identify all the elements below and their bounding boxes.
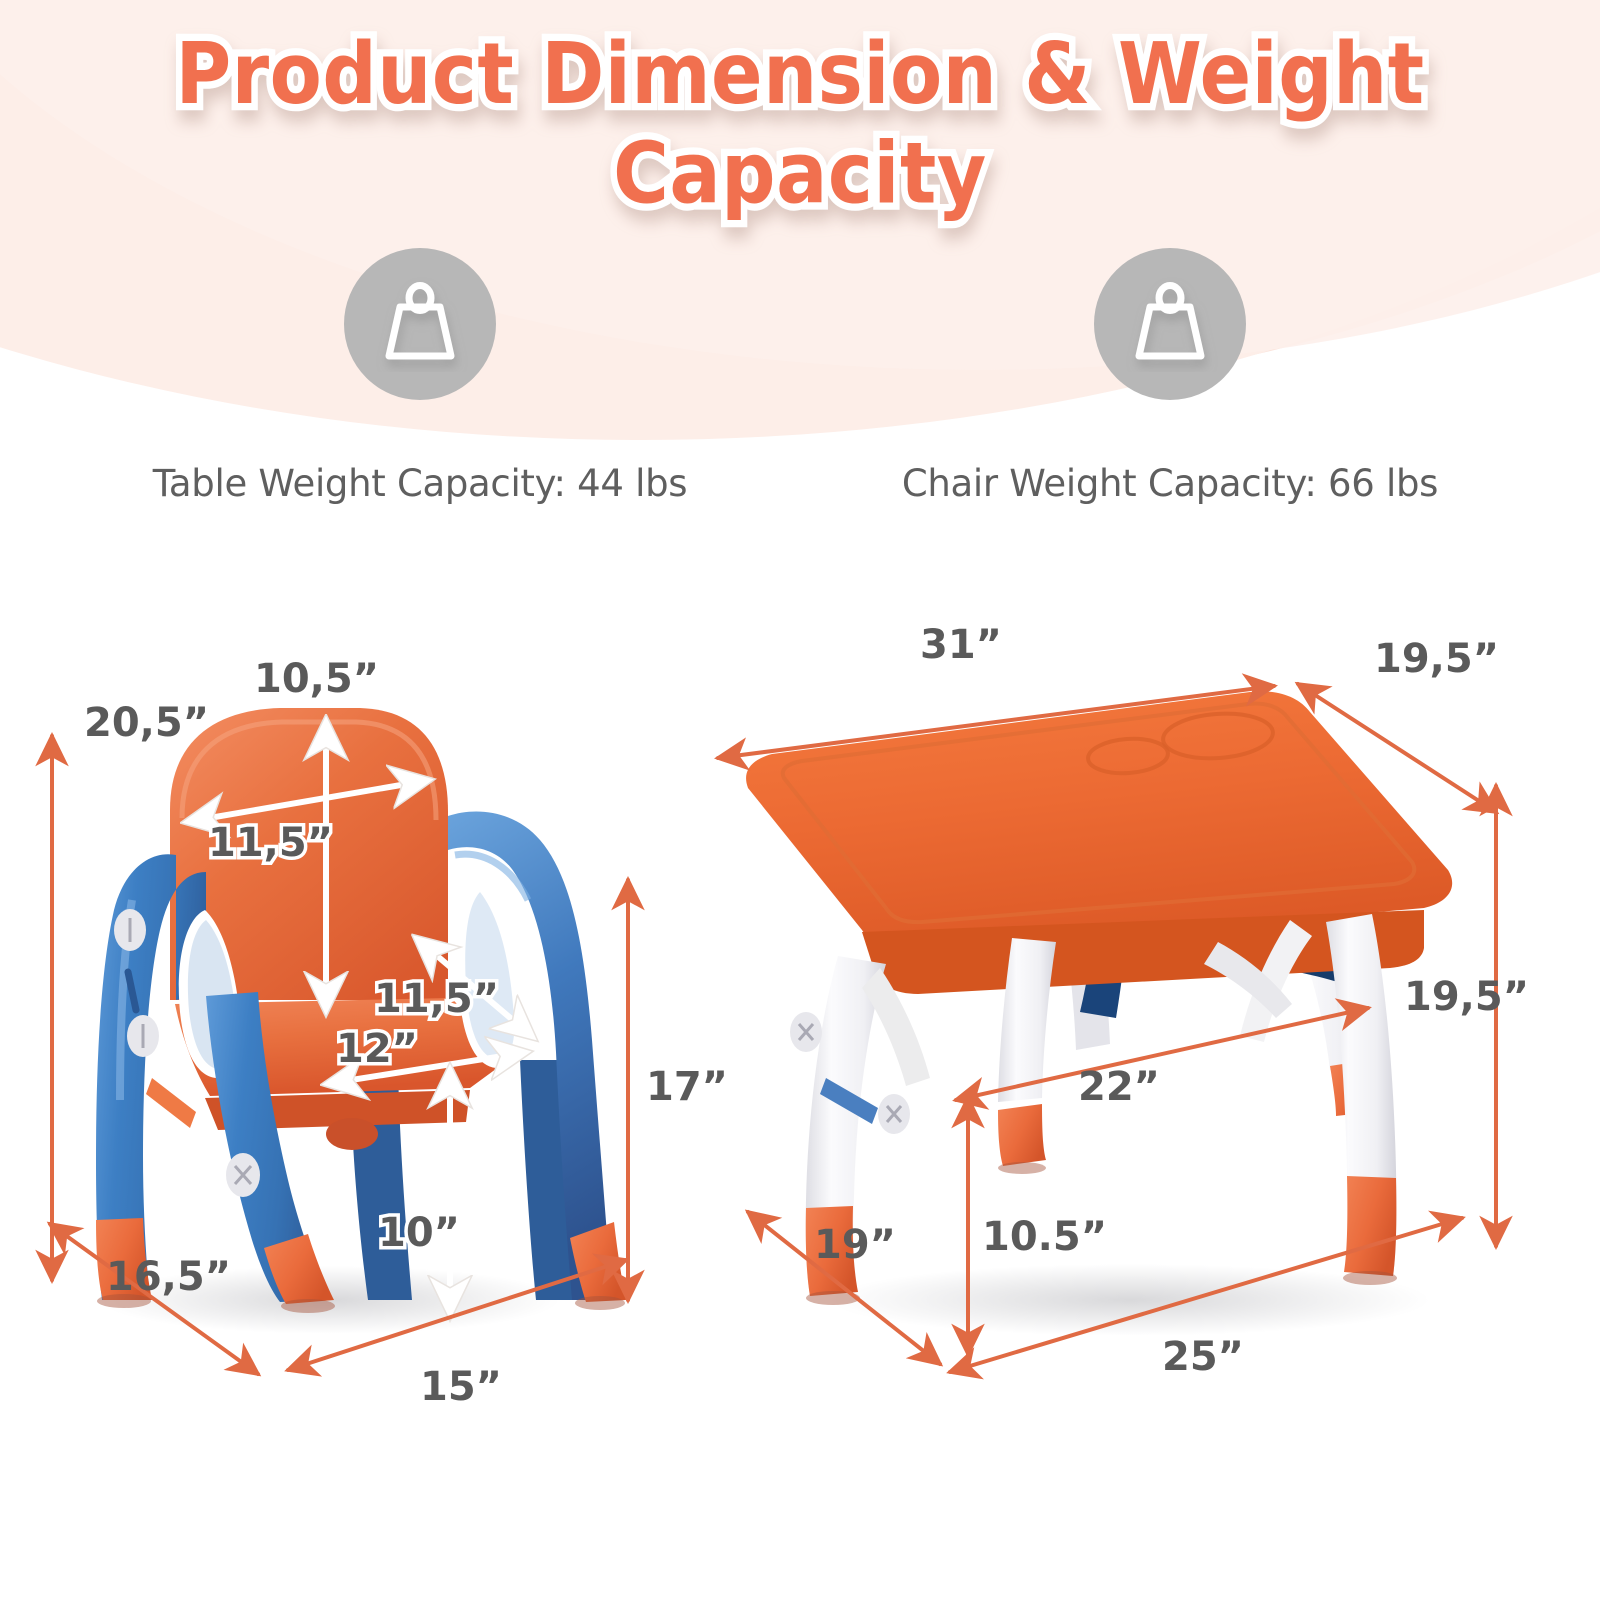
chair-dim-label-base-width: 15” xyxy=(420,1364,502,1410)
chair-dim-label-armrest-height: 17” xyxy=(646,1064,728,1110)
chair-capacity-icon-circle xyxy=(1094,248,1246,400)
table-dim-label-clearance-height: 10.5” xyxy=(982,1214,1107,1260)
table-ground-shadow xyxy=(830,1264,1430,1336)
weight-icon xyxy=(1122,276,1218,372)
table-dim-label-top-width: 19,5” xyxy=(1374,636,1499,682)
capacity-row: Table Weight Capacity: 44 lbs Chair Weig… xyxy=(0,248,1600,528)
chair-dim-label-backrest-width: 11,5” xyxy=(208,820,333,866)
chair-illustration xyxy=(96,708,626,1334)
page-title: Product Dimension & Weight Capacity xyxy=(0,23,1600,222)
chair-dim-label-seat-width: 12” xyxy=(336,1026,418,1072)
table-middle-foot-shadow xyxy=(998,1162,1046,1174)
table-capacity-label: Table Weight Capacity: 44 lbs xyxy=(110,462,730,505)
chair-dim-label-seat-depth: 11,5” xyxy=(374,976,499,1022)
weight-icon xyxy=(372,276,468,372)
chair-foot-shadow-right xyxy=(575,1296,625,1310)
product-dimension-diagram: 20,5” 10,5” 11,5” 11,5” 12” 10” 17” 16,5… xyxy=(0,600,1600,1560)
table-middle-foot-cap xyxy=(998,1104,1046,1166)
table-front-right-foot-shadow xyxy=(1343,1271,1397,1285)
table-dim-label-base-depth: 19” xyxy=(814,1222,896,1268)
table-capacity-icon-circle xyxy=(344,248,496,400)
table-capacity-block: Table Weight Capacity: 44 lbs xyxy=(110,248,730,505)
chair-dim-label-overall-height: 20,5” xyxy=(84,700,209,746)
table-dim-label-top-length: 31” xyxy=(920,622,1002,668)
table-front-right-foot-cap xyxy=(1344,1176,1396,1276)
table-dim-label-brace-length: 22” xyxy=(1078,1064,1160,1110)
chair-dim-label-seat-height: 10” xyxy=(378,1210,460,1256)
table-dim-label-overall-height: 19,5” xyxy=(1404,974,1529,1020)
chair-dim-label-base-depth: 16,5” xyxy=(106,1254,231,1300)
chair-accent-bar xyxy=(146,1078,196,1128)
chair-foot-shadow-front-left xyxy=(281,1299,335,1313)
page-title-container: Product Dimension & Weight Capacity xyxy=(0,34,1600,212)
chair-capacity-block: Chair Weight Capacity: 66 lbs xyxy=(860,248,1480,505)
chair-dim-label-backrest-height: 10,5” xyxy=(254,656,379,702)
table-dim-label-base-width: 25” xyxy=(1162,1334,1244,1380)
chair-seat-post xyxy=(326,1118,378,1150)
chair-capacity-label: Chair Weight Capacity: 66 lbs xyxy=(860,462,1480,505)
